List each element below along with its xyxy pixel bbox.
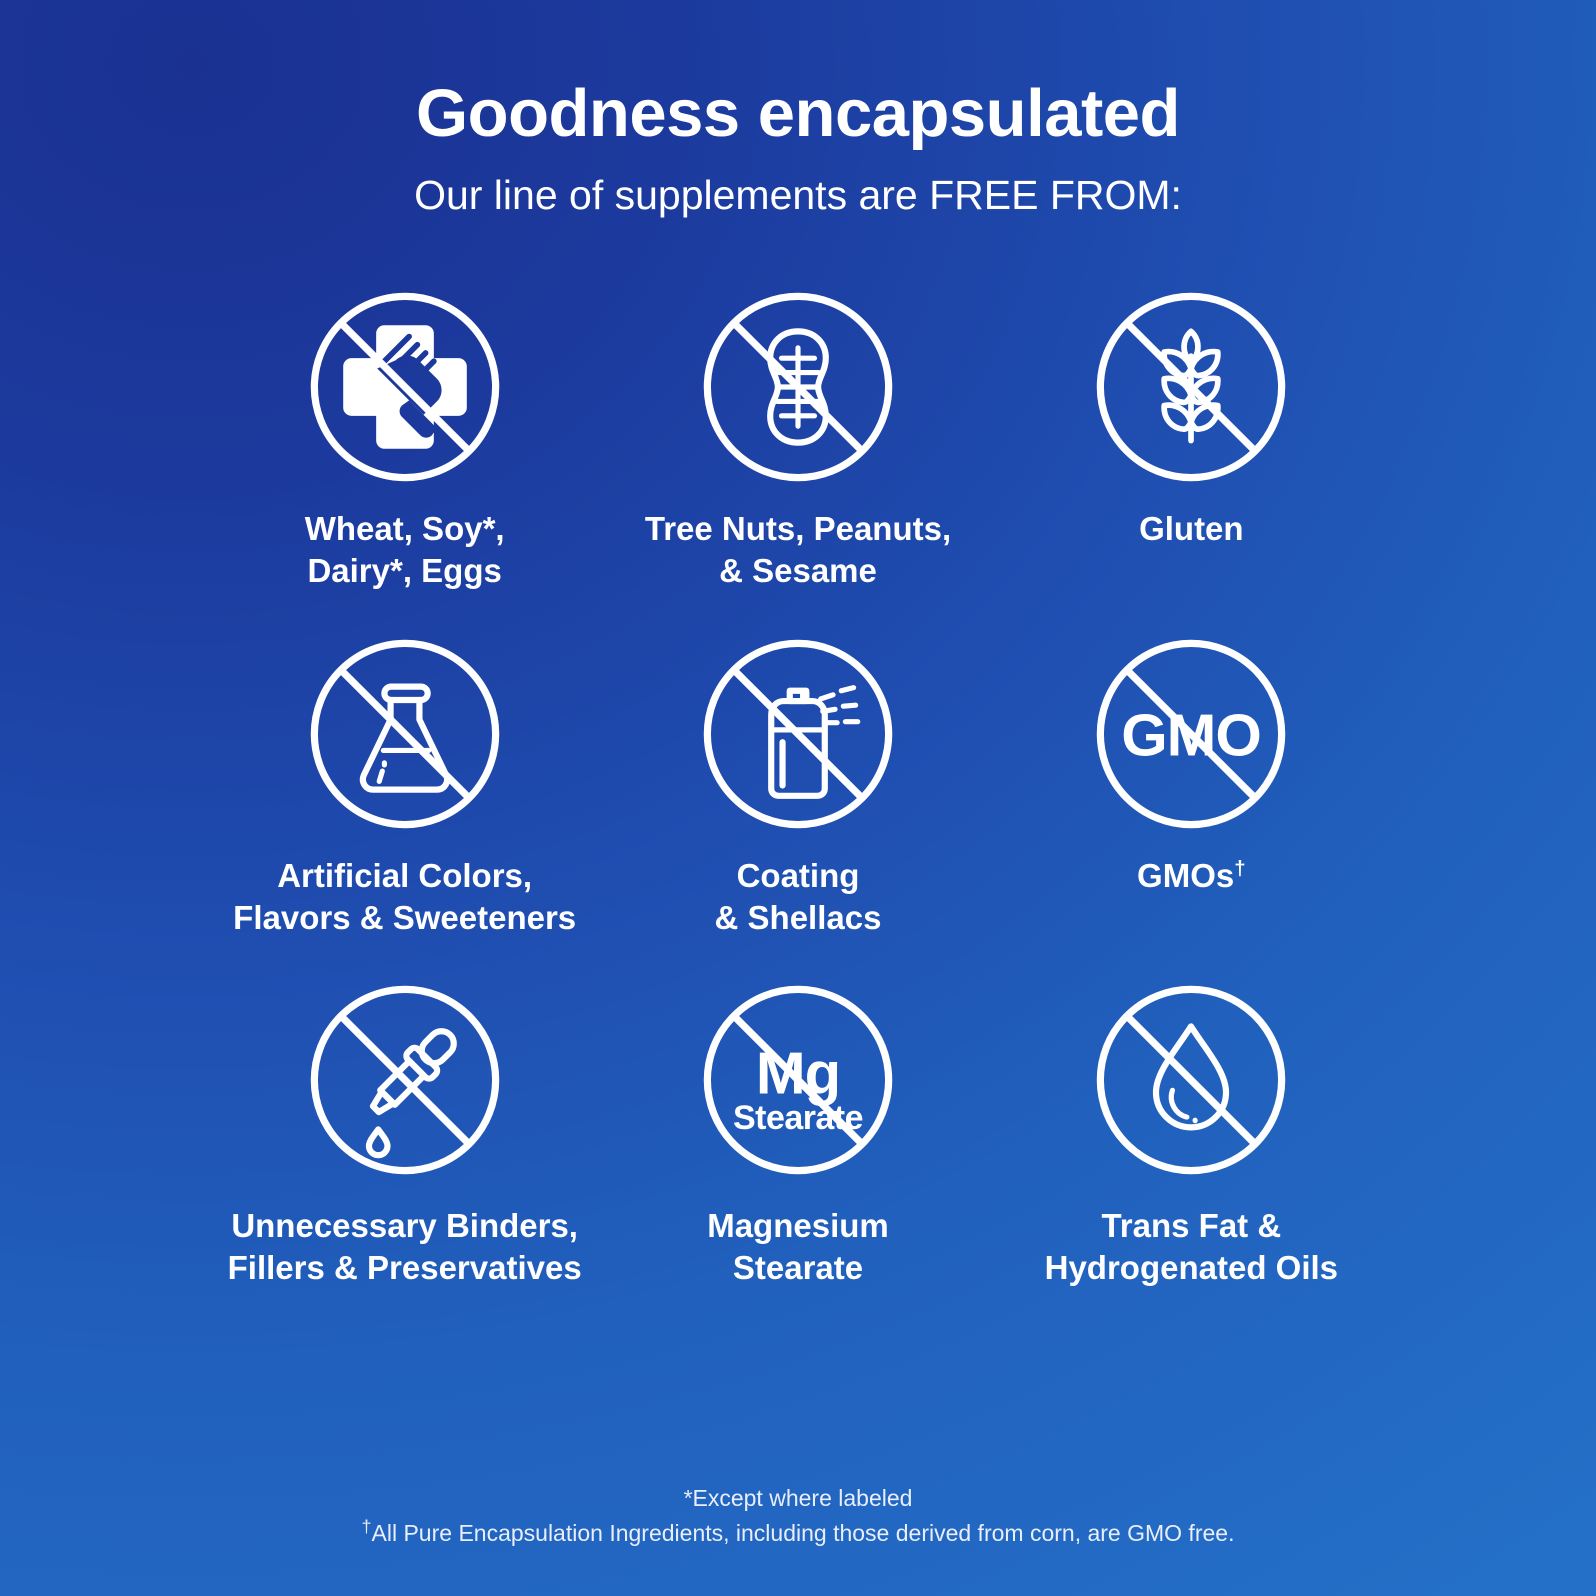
free-from-grid: Wheat, Soy*, Dairy*, Eggs bbox=[208, 284, 1388, 1289]
free-from-poster: Goodness encapsulated Our line of supple… bbox=[0, 0, 1596, 1596]
free-from-item-label: Coating & Shellacs bbox=[715, 855, 882, 939]
free-from-item-binders-fillers: Unnecessary Binders, Fillers & Preservat… bbox=[208, 977, 601, 1289]
free-from-item-label: Gluten bbox=[1139, 508, 1244, 550]
footnotes: *Except where labeled †All Pure Encapsul… bbox=[0, 1481, 1596, 1552]
free-from-item-label: Trans Fat & Hydrogenated Oils bbox=[1045, 1205, 1338, 1289]
no-gmo-icon: GMO bbox=[1088, 631, 1294, 837]
no-allergen-cross-fork-icon bbox=[302, 284, 508, 490]
no-flask-icon bbox=[302, 631, 508, 837]
free-from-item-tree-nuts-peanuts-sesame: Tree Nuts, Peanuts, & Sesame bbox=[601, 284, 994, 592]
free-from-item-label: Magnesium Stearate bbox=[707, 1205, 889, 1289]
free-from-item-artificial-colors: Artificial Colors, Flavors & Sweeteners bbox=[208, 631, 601, 939]
free-from-item-label: Wheat, Soy*, Dairy*, Eggs bbox=[305, 508, 505, 592]
no-spray-can-icon bbox=[695, 631, 901, 837]
free-from-item-label: Unnecessary Binders, Fillers & Preservat… bbox=[228, 1205, 582, 1289]
free-from-item-wheat-soy-dairy-eggs: Wheat, Soy*, Dairy*, Eggs bbox=[208, 284, 601, 592]
free-from-item-label: GMOs† bbox=[1137, 855, 1246, 897]
footnote-except-where-labeled: *Except where labeled bbox=[0, 1481, 1596, 1517]
stearate-icon-text: Stearate bbox=[733, 1099, 863, 1137]
footnote-marker-dagger: † bbox=[1234, 857, 1245, 880]
no-dropper-icon bbox=[302, 977, 508, 1183]
header: Goodness encapsulated Our line of supple… bbox=[0, 0, 1596, 220]
no-oil-droplet-icon bbox=[1088, 977, 1294, 1183]
gmo-icon-text: GMO bbox=[1122, 701, 1262, 768]
free-from-item-trans-fat: Trans Fat & Hydrogenated Oils bbox=[995, 977, 1388, 1289]
free-from-item-gmos: GMO GMOs† bbox=[995, 631, 1388, 939]
no-peanut-icon bbox=[695, 284, 901, 490]
no-mg-stearate-icon: Mg Stearate bbox=[695, 977, 901, 1183]
free-from-item-gluten: Gluten bbox=[995, 284, 1388, 592]
free-from-item-label: Tree Nuts, Peanuts, & Sesame bbox=[645, 508, 951, 592]
page-title: Goodness encapsulated bbox=[0, 78, 1596, 149]
free-from-item-label: Artificial Colors, Flavors & Sweeteners bbox=[233, 855, 576, 939]
footnote-gmo-free: †All Pure Encapsulation Ingredients, inc… bbox=[0, 1516, 1596, 1552]
mg-icon-text: Mg bbox=[756, 1039, 840, 1106]
no-wheat-stalk-icon bbox=[1088, 284, 1294, 490]
free-from-item-coating-shellacs: Coating & Shellacs bbox=[601, 631, 994, 939]
page-subtitle: Our line of supplements are FREE FROM: bbox=[0, 171, 1596, 220]
dagger-marker: † bbox=[362, 1517, 372, 1537]
free-from-item-magnesium-stearate: Mg Stearate Magnesium Stearate bbox=[601, 977, 994, 1289]
